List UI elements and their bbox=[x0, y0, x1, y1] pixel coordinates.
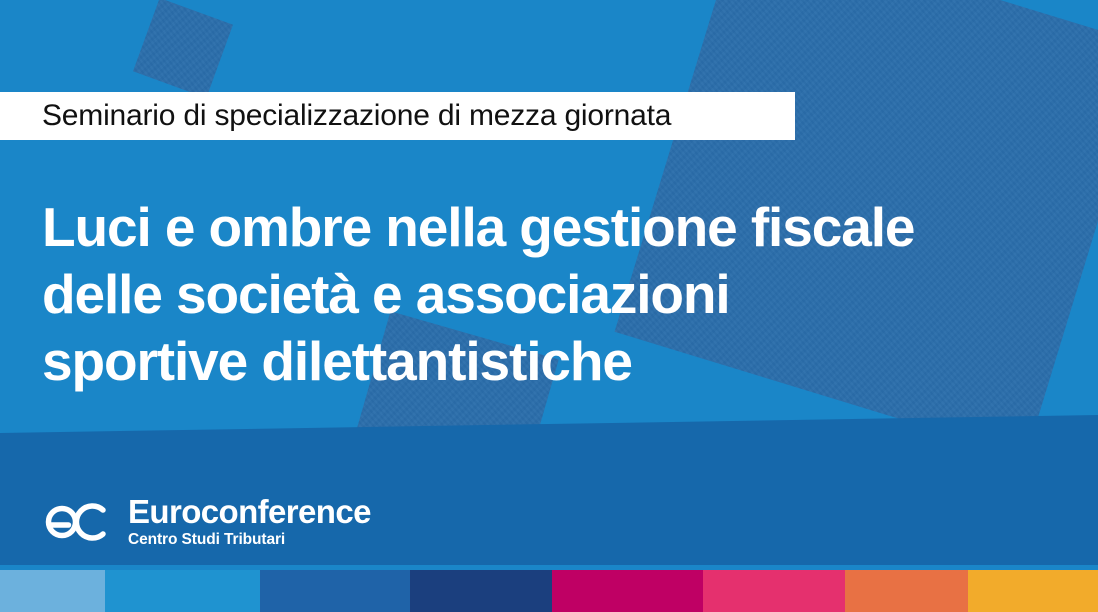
headline-line-2: delle società e associazioni bbox=[42, 261, 1042, 328]
page-title: Luci e ombre nella gestione fiscale dell… bbox=[42, 194, 1042, 395]
logo-wordmark: Euroconference Centro Studi Tributari bbox=[128, 495, 371, 549]
headline-line-1: Luci e ombre nella gestione fiscale bbox=[42, 194, 1042, 261]
color-bar-segment-magenta bbox=[552, 570, 703, 612]
brand-color-bar bbox=[0, 570, 1098, 612]
color-bar-segment-pink bbox=[703, 570, 845, 612]
color-bar-segment-gold bbox=[968, 570, 1098, 612]
color-bar-segment-medium-blue bbox=[260, 570, 410, 612]
color-bar-segment-light-blue bbox=[0, 570, 105, 612]
eyebrow-strip: Seminario di specializzazione di mezza g… bbox=[0, 92, 795, 140]
event-banner: Seminario di specializzazione di mezza g… bbox=[0, 0, 1098, 612]
eyebrow-label: Seminario di specializzazione di mezza g… bbox=[42, 99, 671, 133]
ec-monogram-icon bbox=[40, 499, 114, 545]
decorative-square-small bbox=[133, 0, 233, 98]
euroconference-logo: Euroconference Centro Studi Tributari bbox=[40, 495, 371, 549]
color-bar-segment-orange bbox=[845, 570, 968, 612]
color-bar-segment-azure bbox=[105, 570, 260, 612]
color-bar-segment-navy bbox=[410, 570, 552, 612]
headline-line-3: sportive dilettantistiche bbox=[42, 328, 1042, 395]
logo-brand-name: Euroconference bbox=[128, 495, 371, 529]
logo-tagline: Centro Studi Tributari bbox=[128, 530, 371, 549]
